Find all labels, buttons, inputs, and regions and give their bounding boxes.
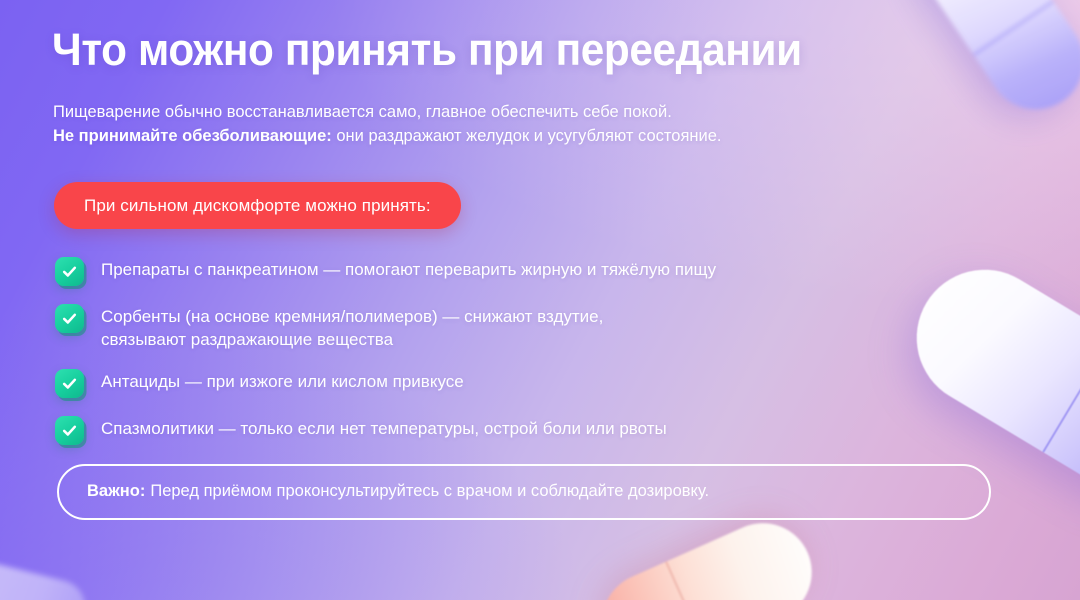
list-item: Препараты с панкреатином — помогают пере…: [55, 256, 1015, 286]
important-note-label: Важно:: [87, 481, 145, 502]
list-item: Сорбенты (на основе кремния/полимеров) —…: [55, 303, 1015, 351]
status-badge: При сильном дискомфорте можно принять:: [54, 182, 461, 229]
check-icon: [55, 304, 84, 333]
capsule-seam-icon: [973, 0, 1054, 55]
list-item-line-1: Сорбенты (на основе кремния/полимеров) —…: [101, 307, 603, 326]
subtitle-block: Пищеварение обычно восстанавливается сам…: [53, 100, 1013, 149]
list-item-text: Спазмолитики — только если нет температу…: [101, 415, 667, 441]
infographic-canvas: Что можно принять при переедании Пищевар…: [0, 0, 1080, 600]
list-item-text: Антациды — при изжоге или кислом привкус…: [101, 368, 464, 394]
list-item-line-1: Спазмолитики — только если нет температу…: [101, 419, 667, 438]
capsule-bottom-decor: [587, 507, 828, 600]
important-note-text: Перед приёмом проконсультируйтесь с врач…: [150, 481, 709, 502]
subtitle-warning-rest: они раздражают желудок и усугубляют сост…: [336, 127, 721, 145]
subtitle-warning-strong: Не принимайте обезболивающие:: [53, 127, 332, 145]
subtitle-line-1: Пищеварение обычно восстанавливается сам…: [53, 103, 672, 121]
check-icon: [55, 369, 84, 398]
list-item-text: Препараты с панкреатином — помогают пере…: [101, 256, 716, 282]
important-note-box: Важно: Перед приёмом проконсультируйтесь…: [57, 464, 991, 520]
page-title: Что можно принять при переедании: [52, 26, 802, 73]
check-icon: [55, 416, 84, 445]
check-icon: [55, 257, 84, 286]
recommendations-list: Препараты с панкреатином — помогают пере…: [55, 256, 1015, 445]
list-item-line-1: Антациды — при изжоге или кислом привкус…: [101, 372, 464, 391]
capsule-seam-icon: [1042, 335, 1080, 453]
capsule-bottom-left-decor: [0, 558, 91, 600]
list-item: Спазмолитики — только если нет температу…: [55, 415, 1015, 445]
list-item: Антациды — при изжоге или кислом привкус…: [55, 368, 1015, 398]
list-item-line-2: связывают раздражающие вещества: [101, 329, 603, 352]
list-item-line-1: Препараты с панкреатином — помогают пере…: [101, 260, 716, 279]
list-item-text: Сорбенты (на основе кремния/полимеров) —…: [101, 303, 603, 351]
capsule-seam-icon: [665, 561, 707, 600]
